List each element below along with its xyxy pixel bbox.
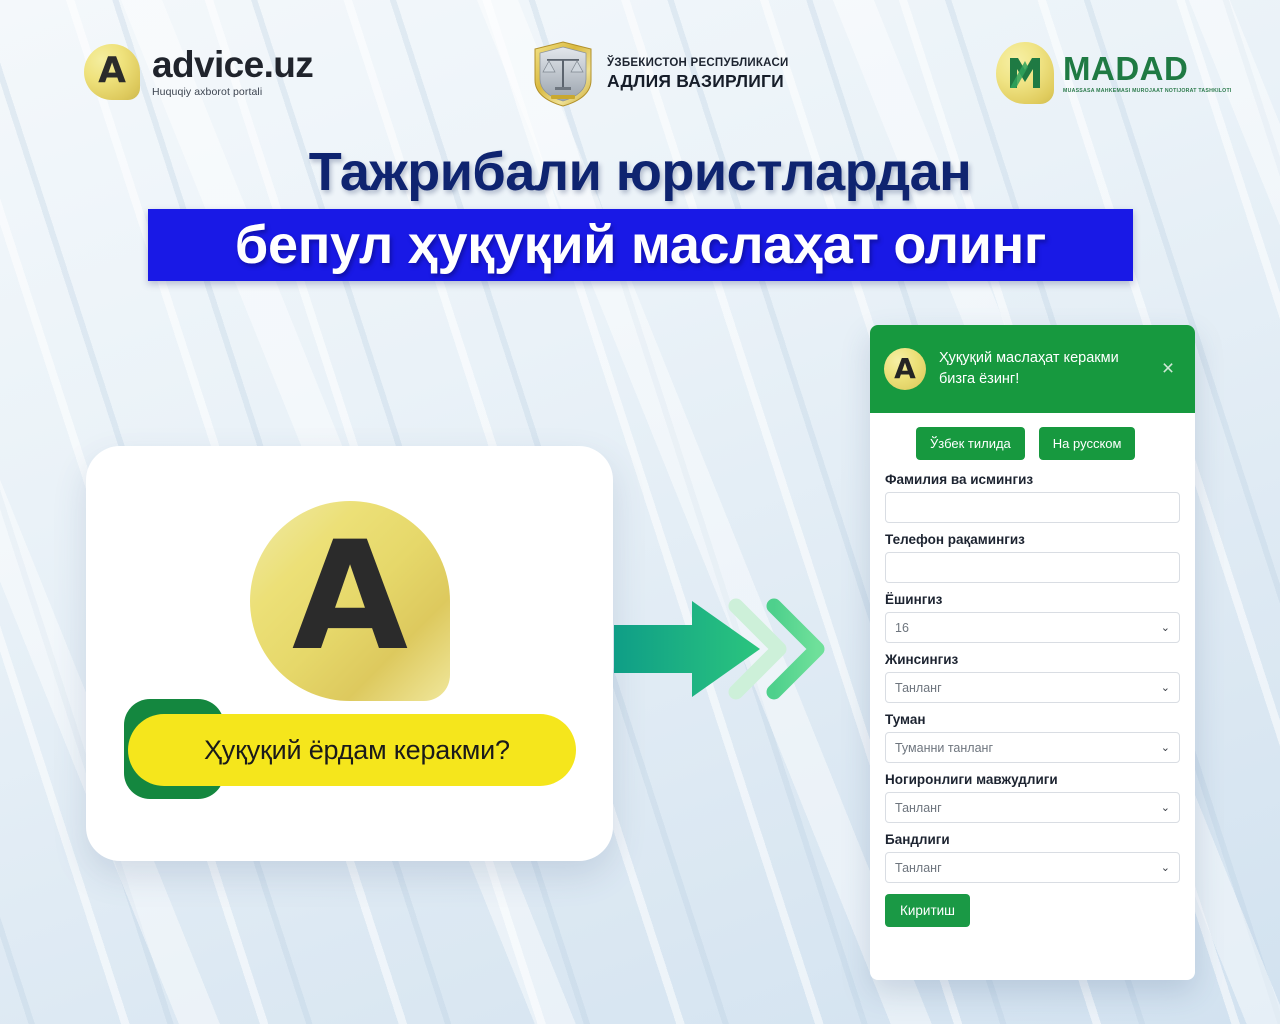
headline-line-1: Тажрибали юристлардан: [0, 141, 1280, 203]
fullname-input[interactable]: [885, 492, 1180, 523]
gender-select-value: Танланг: [895, 681, 942, 695]
chevron-down-icon: ⌄: [1161, 861, 1170, 874]
chevron-down-icon: ⌄: [1161, 801, 1170, 814]
age-select-value: 16: [895, 621, 909, 635]
field-disability: Ногиронлиги мавжудлиги Танланг ⌄: [885, 772, 1180, 823]
field-phone-label: Телефон рақамингиз: [885, 532, 1180, 547]
headline-banner: бепул ҳуқуқий маслаҳат олинг: [148, 209, 1133, 281]
gender-select[interactable]: Танланг ⌄: [885, 672, 1180, 703]
advice-logo-icon: A: [84, 44, 140, 100]
header-logos: A advice.uz Huquqiy axborot portali: [0, 0, 1280, 130]
consultation-form-panel: A Ҳуқуқий маслаҳат керакми бизга ёзинг! …: [870, 325, 1195, 980]
field-gender-label: Жинсингиз: [885, 652, 1180, 667]
field-age-label: Ёшингиз: [885, 592, 1180, 607]
field-district-label: Туман: [885, 712, 1180, 727]
advice-chat-avatar-icon: A: [250, 501, 450, 701]
field-fullname: Фамилия ва исмингиз: [885, 472, 1180, 523]
advice-logo-letter: A: [98, 53, 126, 89]
disability-select[interactable]: Танланг ⌄: [885, 792, 1180, 823]
promo-card: A Ҳуқуқий ёрдам керакми?: [86, 446, 613, 861]
field-phone: Телефон рақамингиз: [885, 532, 1180, 583]
employment-select-value: Танланг: [895, 861, 942, 875]
ministry-line-2: АДЛИЯ ВАЗИРЛИГИ: [607, 71, 789, 92]
brand-ministry-of-justice: ЎЗБЕКИСТОН РЕСПУБЛИКАСИ АДЛИЯ ВАЗИРЛИГИ: [531, 40, 789, 108]
madad-logo-text: MADAD MUASSASA MAHKEMASI MUROJAAT NOTIJO…: [1063, 52, 1232, 94]
language-switch-row: Ўзбек тилида На русском: [870, 413, 1195, 470]
close-icon[interactable]: ×: [1157, 358, 1179, 380]
form-header-avatar-letter: A: [894, 355, 916, 383]
right-arrow-with-chevrons-icon: [614, 592, 864, 707]
chevron-down-icon: ⌄: [1161, 621, 1170, 634]
district-select-value: Туманни танланг: [895, 741, 993, 755]
promo-pill-label: Ҳуқуқий ёрдам керакми?: [204, 735, 510, 766]
field-employment: Бандлиги Танланг ⌄: [885, 832, 1180, 883]
field-age: Ёшингиз 16 ⌄: [885, 592, 1180, 643]
chevron-down-icon: ⌄: [1161, 741, 1170, 754]
advice-chat-avatar-letter: A: [292, 522, 408, 672]
chevron-down-icon: ⌄: [1161, 681, 1170, 694]
form-fields: Фамилия ва исмингиз Телефон рақамингиз Ё…: [870, 470, 1195, 927]
employment-select[interactable]: Танланг ⌄: [885, 852, 1180, 883]
ministry-line-1: ЎЗБЕКИСТОН РЕСПУБЛИКАСИ: [607, 57, 789, 69]
field-gender: Жинсингиз Танланг ⌄: [885, 652, 1180, 703]
field-fullname-label: Фамилия ва исмингиз: [885, 472, 1180, 487]
field-district: Туман Туманни танланг ⌄: [885, 712, 1180, 763]
submit-button[interactable]: Киритиш: [885, 894, 970, 927]
madad-logo-icon: [996, 42, 1054, 104]
madad-logo-title: MADAD: [1063, 52, 1232, 85]
phone-input[interactable]: [885, 552, 1180, 583]
headline-line-2: бепул ҳуқуқий маслаҳат олинг: [235, 214, 1046, 276]
district-select[interactable]: Туманни танланг ⌄: [885, 732, 1180, 763]
field-employment-label: Бандлиги: [885, 832, 1180, 847]
field-disability-label: Ногиронлиги мавжудлиги: [885, 772, 1180, 787]
poster-canvas: A advice.uz Huquqiy axborot portali: [0, 0, 1280, 1024]
promo-pill-button[interactable]: Ҳуқуқий ёрдам керакми?: [128, 714, 576, 786]
lang-uz-button[interactable]: Ўзбек тилида: [916, 427, 1025, 460]
madad-m-glyph-icon: [1007, 55, 1043, 91]
lang-ru-button[interactable]: На русском: [1039, 427, 1136, 460]
madad-logo-subtitle: MUASSASA MAHKEMASI MUROJAAT NOTIJORAT TA…: [1063, 88, 1232, 95]
form-panel-header: A Ҳуқуқий маслаҳат керакми бизга ёзинг! …: [870, 325, 1195, 413]
disability-select-value: Танланг: [895, 801, 942, 815]
arrow-illustration: [614, 592, 864, 707]
advice-logo-subtitle: Huquqiy axborot portali: [152, 86, 313, 98]
form-header-avatar-icon: A: [884, 348, 926, 390]
brand-madad: MADAD MUASSASA MAHKEMASI MUROJAAT NOTIJO…: [996, 42, 1232, 104]
ministry-text: ЎЗБЕКИСТОН РЕСПУБЛИКАСИ АДЛИЯ ВАЗИРЛИГИ: [607, 57, 789, 92]
justice-scales-emblem-icon: [531, 40, 595, 108]
advice-logo-title: advice.uz: [152, 46, 313, 83]
advice-logo-text: advice.uz Huquqiy axborot portali: [152, 46, 313, 98]
brand-advice-uz: A advice.uz Huquqiy axborot portali: [84, 44, 313, 100]
form-header-title: Ҳуқуқий маслаҳат керакми бизга ёзинг!: [939, 348, 1139, 390]
age-select[interactable]: 16 ⌄: [885, 612, 1180, 643]
